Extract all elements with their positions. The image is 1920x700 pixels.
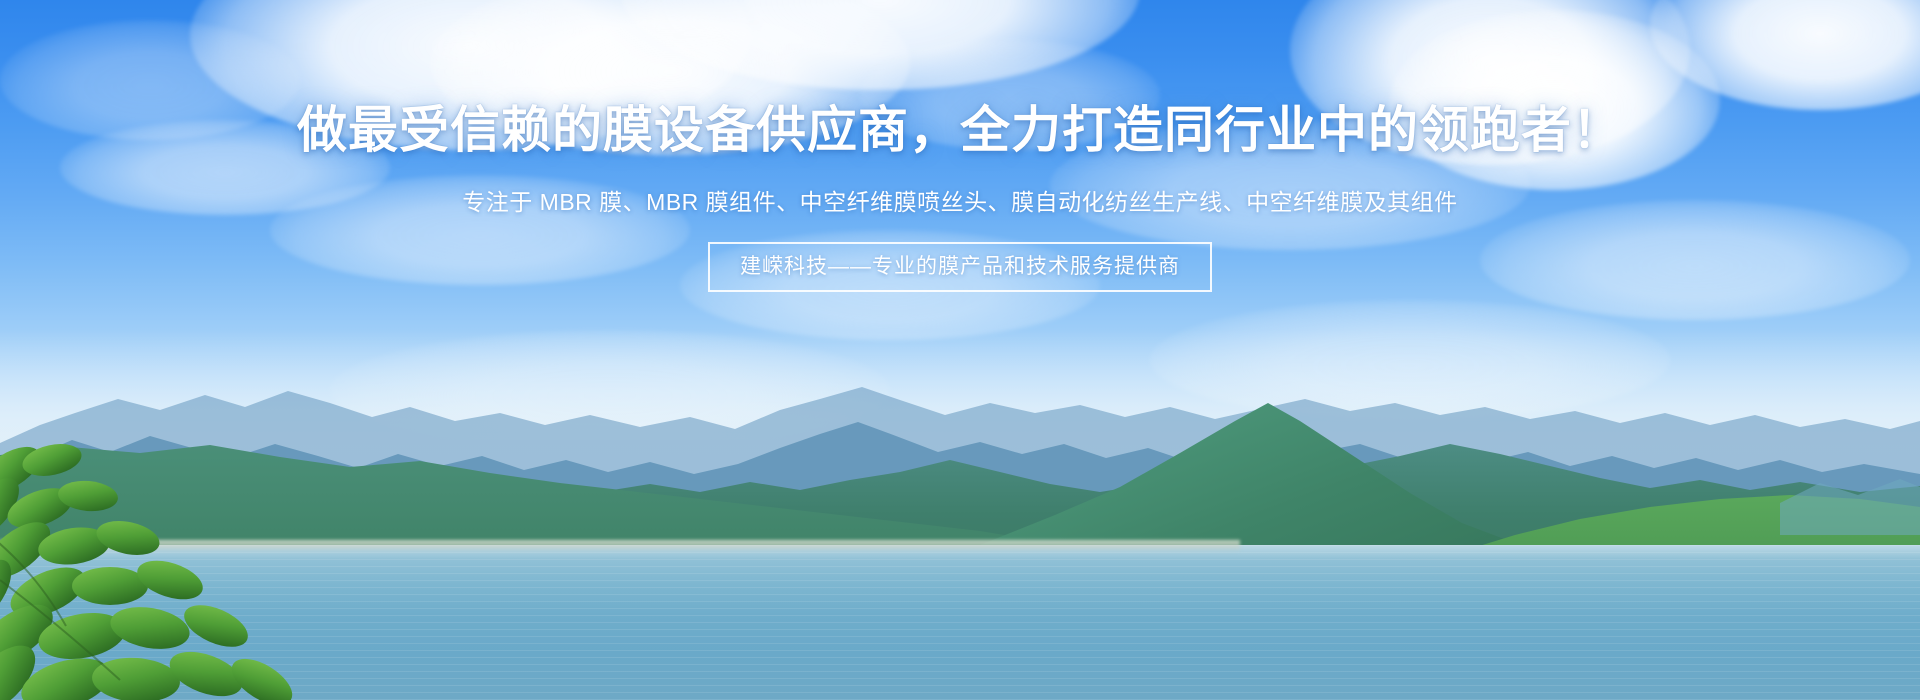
banner-subheadline: 专注于 MBR 膜、MBR 膜组件、中空纤维膜喷丝头、膜自动化纺丝生产线、中空纤… <box>0 183 1920 217</box>
banner-tagline-box: 建嵘科技——专业的膜产品和技术服务提供商 <box>708 242 1212 292</box>
tagline-container: 建嵘科技——专业的膜产品和技术服务提供商 <box>0 242 1920 292</box>
hero-banner: 做最受信赖的膜设备供应商，全力打造同行业中的领跑者！ 专注于 MBR 膜、MBR… <box>0 0 1920 700</box>
banner-content: 做最受信赖的膜设备供应商，全力打造同行业中的领跑者！ 专注于 MBR 膜、MBR… <box>0 0 1920 700</box>
banner-headline: 做最受信赖的膜设备供应商，全力打造同行业中的领跑者！ <box>0 100 1920 160</box>
